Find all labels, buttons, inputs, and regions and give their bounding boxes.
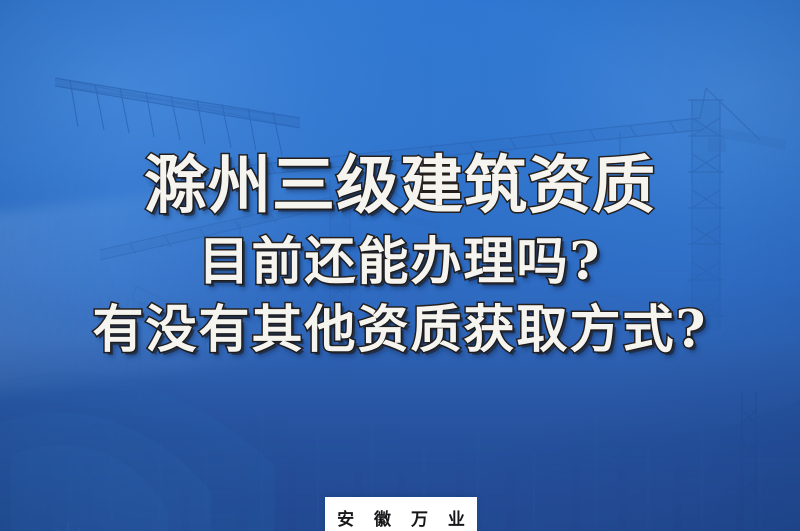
poster-canvas: 滁州三级建筑资质 目前还能办理吗? 有没有其他资质获取方式? 安 徽 万 业 [0, 0, 800, 531]
brand-name-text: 安 徽 万 业 [330, 505, 472, 530]
background-gradient [0, 0, 800, 531]
brand-plate: 安 徽 万 业 [325, 497, 477, 531]
